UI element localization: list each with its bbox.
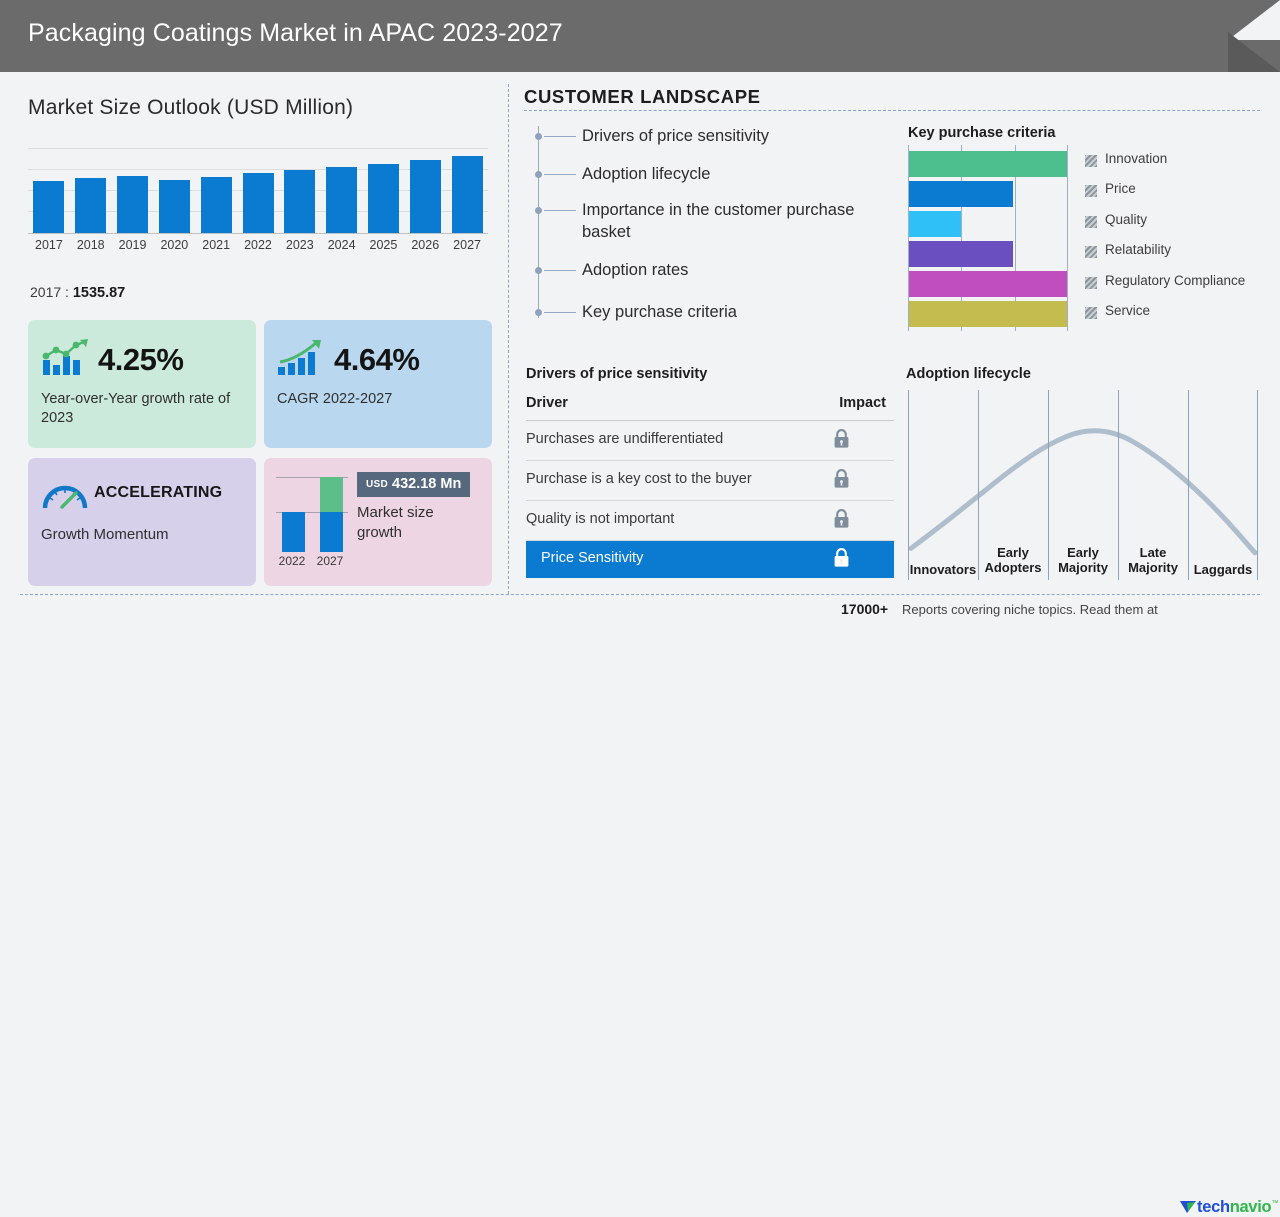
kpc-legend-label: Price: [1105, 181, 1136, 196]
market-size-panel: Market Size Outlook (USD Million) 201720…: [0, 72, 508, 624]
driver-row-3[interactable]: Quality is not important: [526, 501, 894, 541]
drivers-title: Drivers of price sensitivity: [526, 366, 707, 382]
x-label-2023: 2023: [279, 238, 321, 252]
hatched-square-icon: [1085, 216, 1097, 228]
customer-landscape-list: Drivers of price sensitivityAdoption lif…: [538, 122, 878, 322]
market-size-growth-badge: USD432.18 Mn: [357, 472, 470, 497]
x-label-2021: 2021: [195, 238, 237, 252]
accelerating-label: ACCELERATING: [94, 484, 222, 502]
adoption-segment-label-early-majority: EarlyMajority: [1048, 545, 1118, 575]
customer-landscape-item-label: Adoption lifecycle: [582, 163, 872, 185]
bullet-dot-icon: [535, 207, 542, 214]
footer-tagline: Reports covering niche topics. Read them…: [902, 602, 1158, 617]
card-growth-momentum[interactable]: ACCELERATING Growth Momentum: [28, 458, 256, 586]
adoption-segment-label-late-majority: LateMajority: [1118, 545, 1188, 575]
kpc-legend-label: Innovation: [1105, 151, 1167, 166]
adoption-lifecycle-title: Adoption lifecycle: [906, 366, 1031, 382]
customer-landscape-underline: [524, 110, 1260, 111]
bar-2023: [284, 170, 315, 233]
impact-lock[interactable]: [833, 509, 850, 534]
list-spine: [538, 126, 539, 318]
bar-2021: [201, 177, 232, 233]
logo-text-navio: navio: [1230, 1198, 1272, 1216]
adoption-segment-label-laggards: Laggards: [1188, 562, 1258, 577]
adoption-segment-label-innovators: Innovators: [908, 562, 978, 577]
cagr-description: CAGR 2022-2027: [277, 390, 487, 409]
bar-2018: [75, 178, 106, 233]
bar-2022: [243, 173, 274, 233]
cagr-value: 4.64%: [334, 342, 419, 378]
market-size-x-axis-labels: 2017201820192020202120222023202420252026…: [28, 238, 488, 256]
impact-lock[interactable]: [833, 469, 850, 494]
column-header-impact: Impact: [839, 395, 886, 411]
driver-name: Price Sensitivity: [541, 550, 643, 566]
hatched-square-icon: [1085, 185, 1097, 197]
technavio-logo[interactable]: technavio™: [1180, 1198, 1278, 1217]
bar-2027: [452, 156, 483, 233]
kpc-bar-regulatory-compliance: [909, 271, 1067, 297]
kpc-bar-relatability: [909, 241, 1013, 267]
kpc-legend-label: Service: [1105, 303, 1150, 318]
kpc-bar-price: [909, 181, 1013, 207]
mini-bar-2027-base: [320, 512, 343, 552]
yoy-value: 4.25%: [98, 342, 183, 378]
bullet-dot-icon: [535, 171, 542, 178]
value-year: 2017 :: [30, 284, 69, 300]
customer-landscape-item-label: Importance in the customer purchase bask…: [582, 199, 872, 243]
x-label-2020: 2020: [153, 238, 195, 252]
hatched-square-icon: [1085, 155, 1097, 167]
bar-2025: [368, 164, 399, 233]
mini-label-2027: 2027: [313, 554, 347, 568]
driver-name: Quality is not important: [526, 511, 674, 527]
lock-icon: [833, 548, 850, 568]
bar-2020: [159, 180, 190, 233]
lock-icon: [833, 509, 850, 529]
x-label-2019: 2019: [112, 238, 154, 252]
impact-lock[interactable]: [833, 548, 850, 573]
hatched-square-icon: [1085, 277, 1097, 289]
market-size-growth-mini-chart: 2022 2027: [276, 472, 351, 572]
lock-icon: [833, 429, 850, 449]
mini-label-2022: 2022: [275, 554, 309, 568]
adoption-lifecycle-chart: InnovatorsEarlyAdoptersEarlyMajorityLate…: [908, 390, 1258, 586]
logo-text-tech: tech: [1197, 1198, 1230, 1216]
lock-icon: [833, 469, 850, 489]
driver-row-4[interactable]: Price Sensitivity: [526, 541, 894, 578]
card-cagr[interactable]: 4.64% CAGR 2022-2027: [264, 320, 492, 448]
adoption-segment-label-early-adopters: EarlyAdopters: [978, 545, 1048, 575]
hatched-square-icon: [1085, 246, 1097, 258]
reports-count: 17000+: [841, 601, 888, 617]
vertical-divider: [508, 84, 509, 594]
x-label-2018: 2018: [70, 238, 112, 252]
kpc-legend-label: Regulatory Compliance: [1105, 273, 1245, 288]
kpc-gridline-3: [1067, 145, 1068, 331]
value-amount: 1535.87: [73, 285, 125, 301]
bar-2019: [117, 176, 148, 233]
bar-2026: [410, 160, 441, 233]
x-label-2024: 2024: [321, 238, 363, 252]
adoption-segment-divider-0: [908, 390, 909, 580]
bar-2017: [33, 181, 64, 233]
market-size-value-annotation: 2017 : 1535.87: [30, 284, 125, 301]
market-size-title: Market Size Outlook (USD Million): [28, 96, 353, 120]
card-yoy-growth[interactable]: 4.25% Year-over-Year growth rate of 2023: [28, 320, 256, 448]
kpc-legend-label: Quality: [1105, 212, 1147, 227]
adoption-segment-divider-4: [1188, 390, 1189, 580]
bar-chart-growth-icon: [40, 338, 90, 383]
bar-2024: [326, 167, 357, 233]
badge-amount: 432.18 Mn: [392, 476, 461, 492]
driver-name: Purchase is a key cost to the buyer: [526, 471, 752, 487]
leader-line: [544, 210, 576, 211]
card-market-size-growth[interactable]: 2022 2027 USD432.18 Mn Market size growt…: [264, 458, 492, 586]
growth-momentum-label: Growth Momentum: [41, 526, 169, 543]
drivers-table: Driver Impact Purchases are undifferenti…: [526, 395, 894, 578]
kpc-bar-quality: [909, 211, 961, 237]
kpc-bar-innovation: [909, 151, 1067, 177]
bullet-dot-icon: [535, 309, 542, 316]
bullet-dot-icon: [535, 267, 542, 274]
adoption-segment-divider-5: [1257, 390, 1258, 580]
x-label-2017: 2017: [28, 238, 70, 252]
customer-landscape-item-label: Adoption rates: [582, 259, 872, 281]
key-purchase-criteria-title: Key purchase criteria: [908, 125, 1056, 141]
page-title: Packaging Coatings Market in APAC 2023-2…: [28, 19, 563, 48]
technavio-arrow-icon: [1180, 1200, 1197, 1214]
driver-row-1[interactable]: Purchases are undifferentiated: [526, 421, 894, 461]
badge-currency: USD: [366, 479, 388, 490]
customer-landscape-title: CUSTOMER LANDSCAPE: [524, 86, 761, 108]
hatched-square-icon: [1085, 307, 1097, 319]
bar-chart-arrow-icon: [276, 338, 326, 383]
drivers-table-header: Driver Impact: [526, 395, 894, 421]
customer-landscape-item-label: Key purchase criteria: [582, 301, 872, 323]
kpc-legend-label: Relatability: [1105, 242, 1171, 257]
logo-trademark: ™: [1271, 1200, 1278, 1207]
driver-row-2[interactable]: Purchase is a key cost to the buyer: [526, 461, 894, 501]
leader-line: [544, 136, 576, 137]
kpc-bar-service: [909, 301, 1067, 327]
driver-name: Purchases are undifferentiated: [526, 431, 723, 447]
speedometer-icon: [41, 478, 89, 517]
page-footer: 17000+ Reports covering niche topics. Re…: [0, 596, 1280, 624]
x-label-2027: 2027: [446, 238, 488, 252]
page-header: Packaging Coatings Market in APAC 2023-2…: [0, 0, 1280, 72]
x-label-2022: 2022: [237, 238, 279, 252]
leader-line: [544, 270, 576, 271]
key-purchase-criteria-chart: [908, 145, 1068, 331]
mini-bar-2027-growth: [320, 477, 343, 512]
bullet-dot-icon: [535, 133, 542, 140]
market-size-bar-chart: [28, 148, 488, 234]
customer-landscape-item-label: Drivers of price sensitivity: [582, 125, 872, 147]
mini-bar-2022-base: [282, 512, 305, 552]
leader-line: [544, 174, 576, 175]
x-label-2026: 2026: [404, 238, 446, 252]
footer-divider: [20, 594, 1260, 595]
corner-fold-decoration: [1228, 0, 1280, 72]
column-header-driver: Driver: [526, 395, 568, 411]
yoy-description: Year-over-Year growth rate of 2023: [41, 390, 251, 428]
leader-line: [544, 312, 576, 313]
x-label-2025: 2025: [363, 238, 405, 252]
impact-lock[interactable]: [833, 429, 850, 454]
market-size-growth-label: Market size growth: [357, 503, 482, 543]
